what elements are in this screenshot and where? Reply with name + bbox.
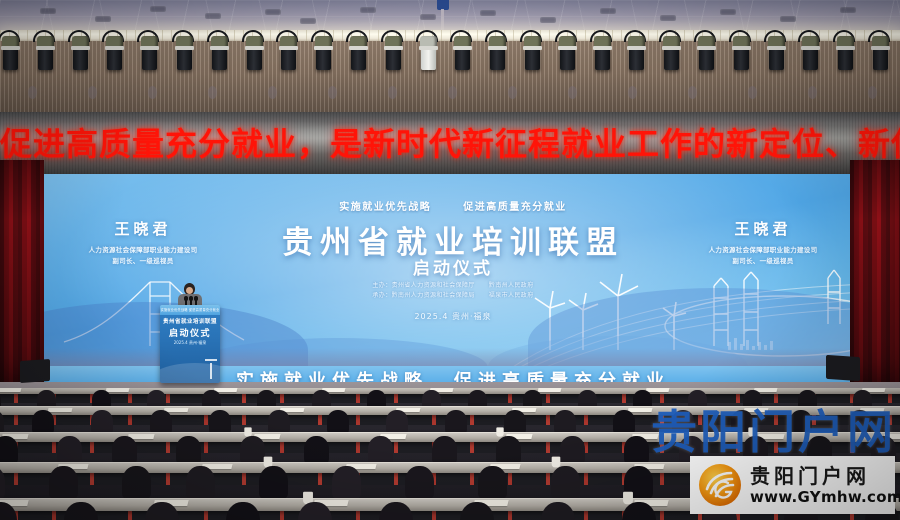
speaker-name-left: 王晓君 — [48, 218, 238, 239]
organizer-2a: 黔南州人力资源和社会保障局 — [392, 292, 475, 299]
speaker-title-left-line2: 副司长、一级巡视员 — [48, 256, 238, 267]
organizer-2b: 福泉市人民政府 — [489, 292, 534, 299]
audience-member — [445, 410, 467, 434]
desk-document — [106, 388, 130, 392]
audience-member — [332, 466, 361, 499]
audience-member — [57, 436, 82, 464]
led-ticker-banner: 促进高质量充分就业，是新时代新征程就业工作的新定位、新使命 — [0, 112, 900, 174]
tagline-left: 实施就业优先战略 — [339, 198, 431, 213]
ceiling-vent — [480, 10, 496, 16]
podium-title: 贵州省就业培训联盟 — [160, 317, 220, 325]
desk-document — [48, 408, 73, 412]
speaker-nameplate-left: 王晓君 人力资源社会保障部职业能力建设司 副司长、一级巡视员 — [48, 218, 238, 268]
ceiling-vent — [300, 18, 316, 24]
audience-member — [327, 410, 349, 434]
ceiling-vent — [40, 8, 56, 14]
ceiling — [0, 0, 900, 34]
speaker-title-left: 人力资源社会保障部职业能力建设司 副司长、一级巡视员 — [48, 245, 238, 268]
wall-grille-dot — [748, 86, 757, 99]
sunburst-logo-icon — [698, 463, 742, 507]
wall-grille-dot — [88, 86, 97, 99]
speaker-name-right: 王晓君 — [668, 218, 858, 239]
podium-subtitle: 启动仪式 — [160, 326, 220, 339]
audience-member — [268, 410, 290, 434]
audience-member — [432, 436, 457, 464]
backdrop-tagline: 实施就业优先战略 促进高质量充分就业 — [38, 198, 868, 213]
speaker-nameplate-right: 王晓君 人力资源社会保障部职业能力建设司 副司长、一级巡视员 — [668, 218, 858, 268]
desk-document — [628, 408, 653, 412]
audience-member — [91, 410, 113, 434]
audience-member — [504, 410, 526, 434]
ticker-text: 促进高质量充分就业，是新时代新征程就业工作的新定位、新使命 — [0, 119, 900, 165]
watermark-site-url: www.GYmhw.com — [750, 488, 900, 506]
tagline-right: 促进高质量充分就业 — [463, 198, 567, 213]
wall-grille-dot — [28, 86, 37, 99]
presenter-face — [186, 287, 193, 294]
audience-member — [551, 466, 580, 499]
wall-grille-dot — [268, 86, 277, 99]
ceiling-vent — [720, 9, 736, 15]
audience-member — [624, 436, 649, 464]
speaker-title-right: 人力资源社会保障部职业能力建设司 副司长、一级巡视员 — [668, 245, 858, 268]
ceiling-vent — [840, 7, 856, 13]
audience-member — [112, 436, 137, 464]
organizer-1a: 贵州省人力资源和社会保障厅 — [392, 282, 475, 289]
conference-photo: 促进高质量充分就业，是新时代新征程就业工作的新定位、新使命 — [0, 0, 900, 520]
organizer-line-2: 承办：黔南州人力资源和社会保障局福泉市人民政府 — [38, 290, 868, 299]
background-watermark-text: 贵阳门户网 — [651, 396, 896, 462]
ceiling-vent — [540, 17, 556, 23]
podium-turbine-icon — [210, 363, 212, 379]
organizer-label-2: 承办： — [372, 292, 391, 299]
audience-member — [259, 466, 288, 499]
ceiling-vent — [205, 13, 221, 19]
organizer-line-1: 主办：贵州省人力资源和社会保障厅黔南州人民政府 — [38, 280, 868, 289]
watermark-logo-card: 贵阳门户网 www.GYmhw.com — [690, 456, 895, 514]
audience-member — [560, 436, 585, 464]
wall-grille-dot — [208, 86, 217, 99]
water-cup — [496, 427, 503, 436]
audience-member — [554, 410, 576, 434]
ceiling-vent — [360, 7, 376, 13]
podium-date: 2025.4 贵州·福泉 — [160, 340, 220, 346]
podium: 实施就业优先战略 促进高质量充分就业 贵州省就业培训联盟 启动仪式 2025.4… — [160, 305, 220, 383]
wall-grille-dot — [148, 86, 157, 99]
water-cup — [552, 457, 561, 468]
wall-grille-dot — [448, 86, 457, 99]
speaker-title-right-line2: 副司长、一级巡视员 — [668, 256, 858, 267]
wall-grille-dot — [628, 86, 637, 99]
wall-grille-dot — [388, 86, 397, 99]
audience-member — [240, 436, 265, 464]
ceiling-vent — [150, 6, 166, 12]
audience-member — [496, 436, 521, 464]
wall-grille-dot — [568, 86, 577, 99]
audience-member — [304, 436, 329, 464]
audience-member — [186, 466, 215, 499]
ceiling-vent — [600, 8, 616, 14]
audience-member — [613, 410, 635, 434]
audience-member — [150, 410, 172, 434]
wall-grille-dot — [868, 86, 877, 99]
ceiling-vent — [420, 14, 436, 20]
ceiling-projector-icon — [437, 0, 449, 10]
audience-member — [386, 410, 408, 434]
audience-member — [122, 466, 151, 499]
wall-grille-dot — [508, 86, 517, 99]
audience-member — [32, 410, 54, 434]
audience-member — [0, 436, 18, 464]
audience-member — [49, 466, 78, 499]
audience-member — [176, 436, 201, 464]
wall-grille-dot — [328, 86, 337, 99]
wall-grille-dot — [688, 86, 697, 99]
speaker-title-right-line1: 人力资源社会保障部职业能力建设司 — [668, 245, 858, 256]
organizer-1b: 黔南州人民政府 — [489, 282, 534, 289]
watermark-text-block: 贵阳门户网 www.GYmhw.com — [750, 465, 900, 506]
audience-member — [368, 436, 393, 464]
ceiling-vent — [660, 15, 676, 21]
organizer-label-1: 主办： — [372, 282, 391, 289]
speaker-title-left-line1: 人力资源社会保障部职业能力建设司 — [48, 245, 238, 256]
ceiling-vent — [95, 16, 111, 22]
audience-member — [478, 466, 507, 499]
podium-top-strip: 实施就业优先战略 促进高质量充分就业 — [160, 305, 220, 315]
ceiling-vent — [265, 9, 281, 15]
audience-member — [209, 410, 231, 434]
stage-monitor-left — [20, 359, 50, 383]
ceiling-vent — [780, 16, 796, 22]
stage-monitor-right — [826, 355, 860, 381]
wall-grille-dot — [808, 86, 817, 99]
desk-document — [538, 388, 562, 392]
audience-member — [405, 466, 434, 499]
upper-wall-panelling — [0, 41, 900, 113]
desk-document — [0, 388, 21, 392]
watermark-site-name: 贵阳门户网 — [750, 465, 900, 487]
